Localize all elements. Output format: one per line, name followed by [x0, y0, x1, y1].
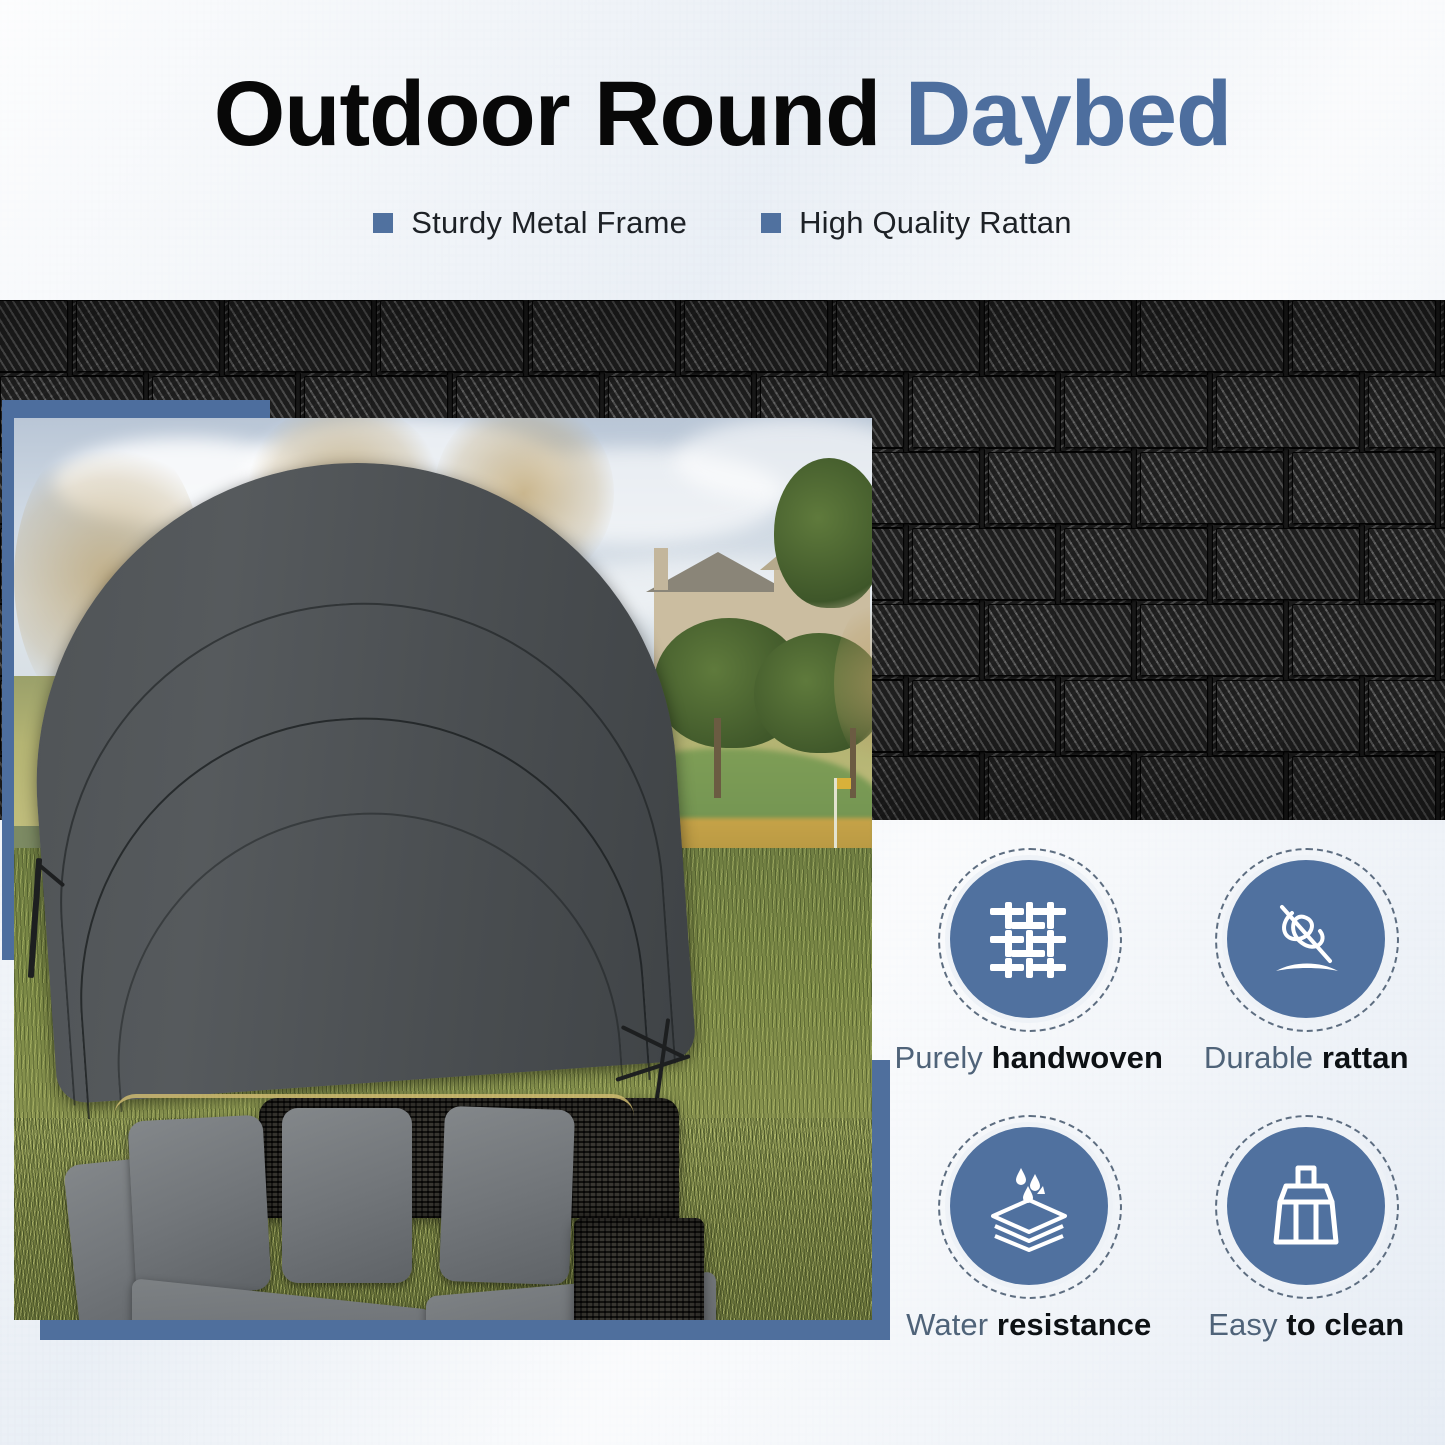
back-pillow: [439, 1106, 575, 1285]
subtitle-bullet-label: Sturdy Metal Frame: [411, 205, 687, 241]
photo-frame-top-accent: [2, 400, 270, 418]
feature-label-muted: Purely: [894, 1040, 991, 1075]
dashed-ring: [938, 848, 1122, 1032]
dashed-ring: [938, 1115, 1122, 1299]
dashed-ring: [1215, 848, 1399, 1032]
feature-label-muted: Easy: [1208, 1307, 1286, 1342]
subtitle-bullet-item: Sturdy Metal Frame: [373, 205, 687, 241]
feature-label: Water resistance: [906, 1307, 1151, 1343]
feature-label-strong: resistance: [997, 1307, 1151, 1342]
subtitle-bullet-list: Sturdy Metal Frame High Quality Rattan: [0, 205, 1445, 241]
no-break-rattan-icon: [1227, 860, 1385, 1018]
feature-label-muted: Water: [906, 1307, 997, 1342]
dashed-ring: [1215, 1115, 1399, 1299]
water-droplets-layers-icon: [950, 1127, 1108, 1285]
square-bullet-icon: [761, 213, 781, 233]
daybed-side-wicker-right: [574, 1218, 704, 1320]
subtitle-bullet-item: High Quality Rattan: [761, 205, 1072, 241]
woven-basketweave-icon: [950, 860, 1108, 1018]
feature-label-muted: Durable: [1204, 1040, 1322, 1075]
back-pillow: [128, 1115, 272, 1297]
feature-label: Purely handwoven: [894, 1040, 1163, 1076]
feature-label-strong: handwoven: [992, 1040, 1163, 1075]
product-photo: [14, 418, 872, 1320]
header: Outdoor Round Daybed Sturdy Metal Frame …: [0, 0, 1445, 300]
feature-label-strong: to clean: [1286, 1307, 1404, 1342]
feature-grid: Purely handwoven Durable rattan: [890, 860, 1445, 1380]
broom-icon: [1227, 1127, 1385, 1285]
subtitle-bullet-label: High Quality Rattan: [799, 205, 1072, 241]
feature-item: Water resistance: [890, 1127, 1168, 1380]
title-part-accent: Daybed: [905, 63, 1231, 165]
title-part-primary: Outdoor Round: [214, 63, 905, 165]
feature-item: Easy to clean: [1168, 1127, 1445, 1380]
feature-label: Easy to clean: [1208, 1307, 1404, 1343]
feature-label-strong: rattan: [1322, 1040, 1409, 1075]
page-title: Outdoor Round Daybed: [0, 68, 1445, 160]
feature-item: Durable rattan: [1168, 860, 1445, 1113]
seat-cushion-left: [132, 1278, 432, 1320]
canopy-hinge: [28, 858, 42, 978]
square-bullet-icon: [373, 213, 393, 233]
daybed-product: [14, 418, 872, 1320]
feature-item: Purely handwoven: [890, 860, 1168, 1113]
photo-frame-bottom-accent: [40, 1318, 890, 1340]
feature-label: Durable rattan: [1204, 1040, 1409, 1076]
back-pillow: [282, 1108, 412, 1283]
